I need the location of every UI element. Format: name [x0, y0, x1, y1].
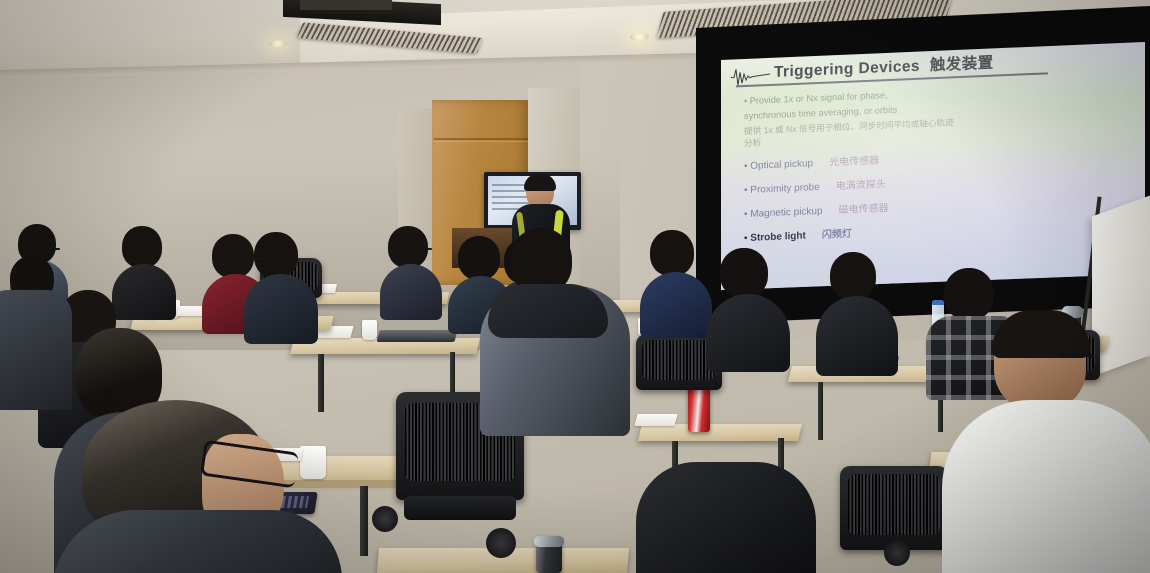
desk-leg: [818, 382, 823, 440]
chair-wheel: [372, 506, 398, 532]
ceiling-projector-mount: [300, 0, 392, 10]
downlight-icon: [269, 40, 287, 47]
hood: [488, 284, 608, 338]
attendee-torso: [52, 510, 342, 573]
thermos-flask: [536, 536, 562, 573]
slide-bullet-strobe-light: • Strobe light闪频灯: [744, 217, 1104, 245]
chair-base: [404, 496, 516, 520]
glasses-icon: [252, 258, 268, 260]
desk-leg: [450, 352, 455, 396]
glasses-icon: [418, 248, 432, 250]
glasses-icon: [44, 248, 60, 250]
presenter-glasses-icon: [528, 189, 552, 191]
laptop: [377, 330, 458, 342]
chair-wheel: [486, 528, 516, 558]
classroom-photo: Triggering Devices触发装置 • Provide 1x or N…: [0, 0, 1150, 573]
office-chair: [840, 466, 948, 550]
paper-sheet: [634, 414, 677, 426]
slide-bullet-magnetic-pickup: • Magnetic pickup磁电传感器: [744, 193, 1104, 221]
paper-cup: [300, 446, 326, 479]
desk-leg: [318, 354, 324, 412]
slide-title-en: Triggering Devices: [774, 58, 920, 81]
chair-wheel: [884, 540, 910, 566]
slide-content: Triggering Devices触发装置 • Provide 1x or N…: [722, 30, 1140, 286]
desk-leg: [360, 486, 368, 556]
slide-bullet-proximity-probe: • Proximity probe电涡流探头: [744, 169, 1104, 197]
glasses-icon: [1060, 354, 1094, 357]
paper-cup: [362, 320, 377, 340]
downlight-icon: [630, 33, 649, 41]
slide-bullet-list: • Provide 1x or Nx signal for phase, syn…: [744, 80, 1104, 245]
slide-title-cn: 触发装置: [930, 55, 994, 75]
slide-bullet-optical-pickup: • Optical pickup光电传感器: [744, 145, 1104, 173]
